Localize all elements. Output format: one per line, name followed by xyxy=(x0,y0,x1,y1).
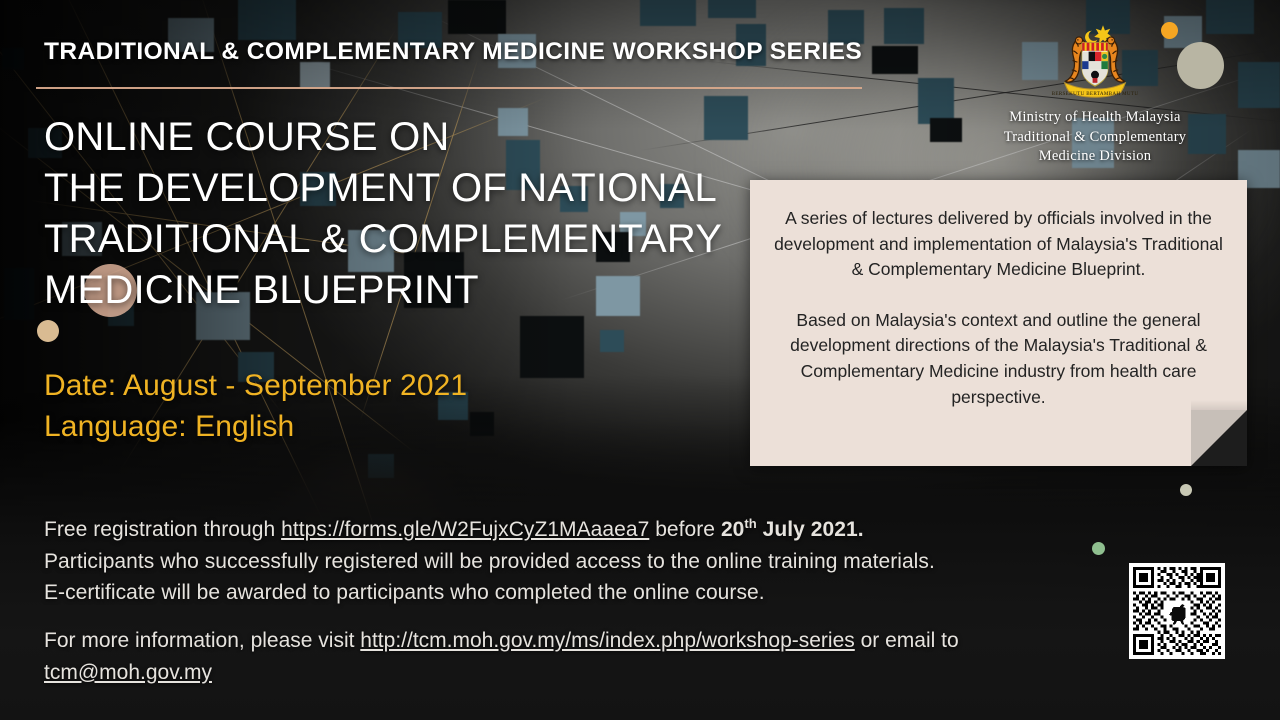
card-paragraph-1: A series of lectures delivered by offici… xyxy=(766,206,1231,283)
event-meta: Date: August - September 2021 Language: … xyxy=(44,365,467,447)
language-value: English xyxy=(195,410,294,443)
title-line-2: THE DEVELOPMENT OF NATIONAL xyxy=(44,163,784,214)
description-card-body: A series of lectures delivered by offici… xyxy=(750,180,1247,410)
header-divider-rule xyxy=(36,87,862,89)
registration-form-link[interactable]: https://forms.gle/W2FujxCyZ1MAaaea7 xyxy=(281,518,649,541)
deadline-day-suffix: th xyxy=(744,516,756,531)
date-value: August - September 2021 xyxy=(123,369,467,402)
green-dot-decor xyxy=(1092,542,1105,555)
email-link[interactable]: tcm@moh.gov.my xyxy=(44,661,212,684)
contact-info: For more information, please visit http:… xyxy=(44,625,1104,688)
qr-code[interactable] xyxy=(1129,563,1225,659)
deadline-date-rest: July 2021. xyxy=(757,518,864,541)
pale-dot-decor xyxy=(1180,484,1192,496)
title-line-4: MEDICINE BLUEPRINT xyxy=(44,265,784,316)
qr-code-icon xyxy=(1133,567,1221,655)
contact-prefix: For more information, please visit xyxy=(44,629,360,652)
ministry-caption: Ministry of Health Malaysia Traditional … xyxy=(995,108,1195,167)
ministry-logo-block: BERSEKUTU BERTAMBAH MUTU Ministry of Hea… xyxy=(995,20,1195,167)
description-card: A series of lectures delivered by offici… xyxy=(750,180,1247,466)
language-row: Language: English xyxy=(44,406,467,447)
registration-line-3: E-certificate will be awarded to partici… xyxy=(44,577,1074,609)
registration-line-2: Participants who successfully registered… xyxy=(44,546,1074,578)
registration-middle: before xyxy=(649,518,721,541)
date-label: Date: xyxy=(44,369,116,402)
card-fold-shadow xyxy=(1191,400,1247,410)
ministry-line-2: Traditional & Complementary xyxy=(995,128,1195,148)
page-title: ONLINE COURSE ON THE DEVELOPMENT OF NATI… xyxy=(44,112,784,316)
ministry-line-1: Ministry of Health Malaysia xyxy=(995,108,1195,128)
title-line-1: ONLINE COURSE ON xyxy=(44,112,784,163)
svg-text:BERSEKUTU BERTAMBAH MUTU: BERSEKUTU BERTAMBAH MUTU xyxy=(1052,91,1139,97)
tan-dot-decor xyxy=(37,320,59,342)
registration-line-1: Free registration through https://forms.… xyxy=(44,508,1074,546)
card-paragraph-2: Based on Malaysia's context and outline … xyxy=(766,308,1231,410)
ministry-line-3: Medicine Division xyxy=(995,147,1195,167)
registration-prefix: Free registration through xyxy=(44,518,281,541)
title-line-3: TRADITIONAL & COMPLEMENTARY xyxy=(44,214,784,265)
registration-info: Free registration through https://forms.… xyxy=(44,508,1074,609)
contact-suffix: or email to xyxy=(855,629,959,652)
language-label: Language: xyxy=(44,410,187,443)
contact-line-1: For more information, please visit http:… xyxy=(44,625,1104,657)
promotional-slide: TRADITIONAL & COMPLEMENTARY MEDICINE WOR… xyxy=(0,0,1280,720)
website-link[interactable]: http://tcm.moh.gov.my/ms/index.php/works… xyxy=(360,629,854,652)
malaysia-coat-of-arms-icon: BERSEKUTU BERTAMBAH MUTU xyxy=(1047,20,1143,104)
card-folded-corner xyxy=(1191,410,1247,466)
deadline-day: 20 xyxy=(721,518,744,541)
page-kicker: TRADITIONAL & COMPLEMENTARY MEDICINE WOR… xyxy=(44,38,862,66)
date-row: Date: August - September 2021 xyxy=(44,365,467,406)
